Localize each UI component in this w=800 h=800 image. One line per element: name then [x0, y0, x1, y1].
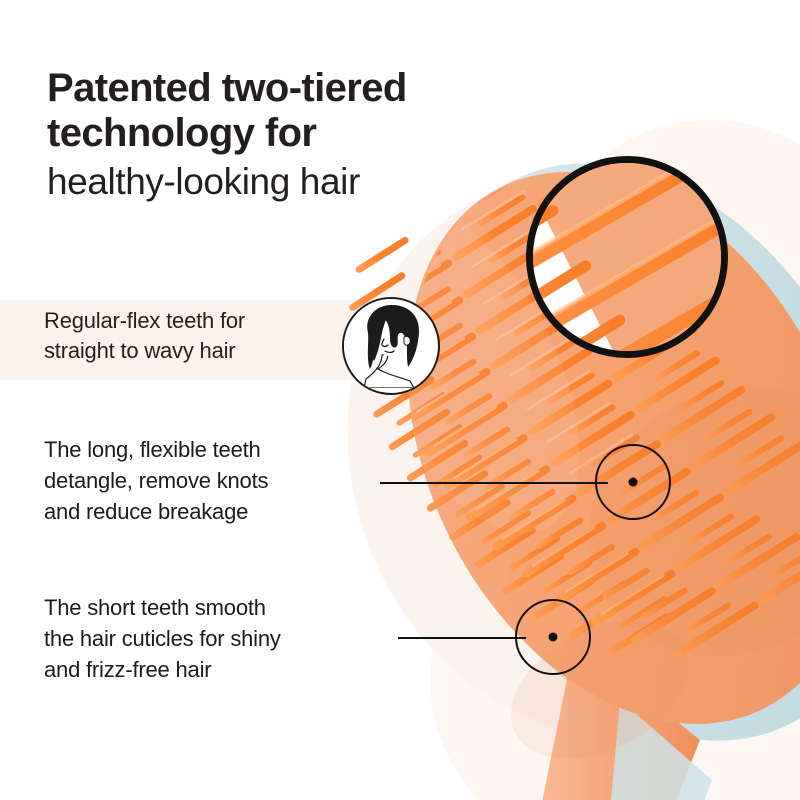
feature-band-line-1: Regular-flex teeth for	[44, 306, 344, 336]
callout-1-line-3: and reduce breakage	[44, 496, 384, 527]
callout-2-line-3: and frizz-free hair	[44, 654, 394, 685]
callout-1-target-dot-icon	[595, 444, 671, 520]
callout-short-teeth: The short teeth smooth the hair cuticles…	[44, 592, 394, 685]
title-line-3: healthy-looking hair	[47, 156, 567, 208]
callout-1-leader-line	[380, 482, 608, 484]
callout-2-leader-line	[398, 637, 526, 639]
woman-hair-silhouette-icon	[342, 297, 440, 395]
feature-band-text: Regular-flex teeth for straight to wavy …	[44, 306, 344, 366]
callout-2-line-1: The short teeth smooth	[44, 592, 394, 623]
infographic-page: Patented two-tiered technology for healt…	[0, 0, 800, 800]
callout-1-dot	[629, 478, 638, 487]
callout-1-line-2: detangle, remove knots	[44, 465, 384, 496]
callout-1-line-1: The long, flexible teeth	[44, 434, 384, 465]
callout-long-flexible-teeth: The long, flexible teeth detangle, remov…	[44, 434, 384, 527]
callout-2-line-2: the hair cuticles for shiny	[44, 623, 394, 654]
callout-2-dot	[549, 633, 558, 642]
feature-band-line-2: straight to wavy hair	[44, 336, 344, 366]
page-title: Patented two-tiered technology for healt…	[47, 66, 567, 208]
title-line-1: Patented two-tiered	[47, 66, 567, 111]
callout-2-target-dot-icon	[515, 599, 591, 675]
title-line-2: technology for	[47, 111, 567, 156]
